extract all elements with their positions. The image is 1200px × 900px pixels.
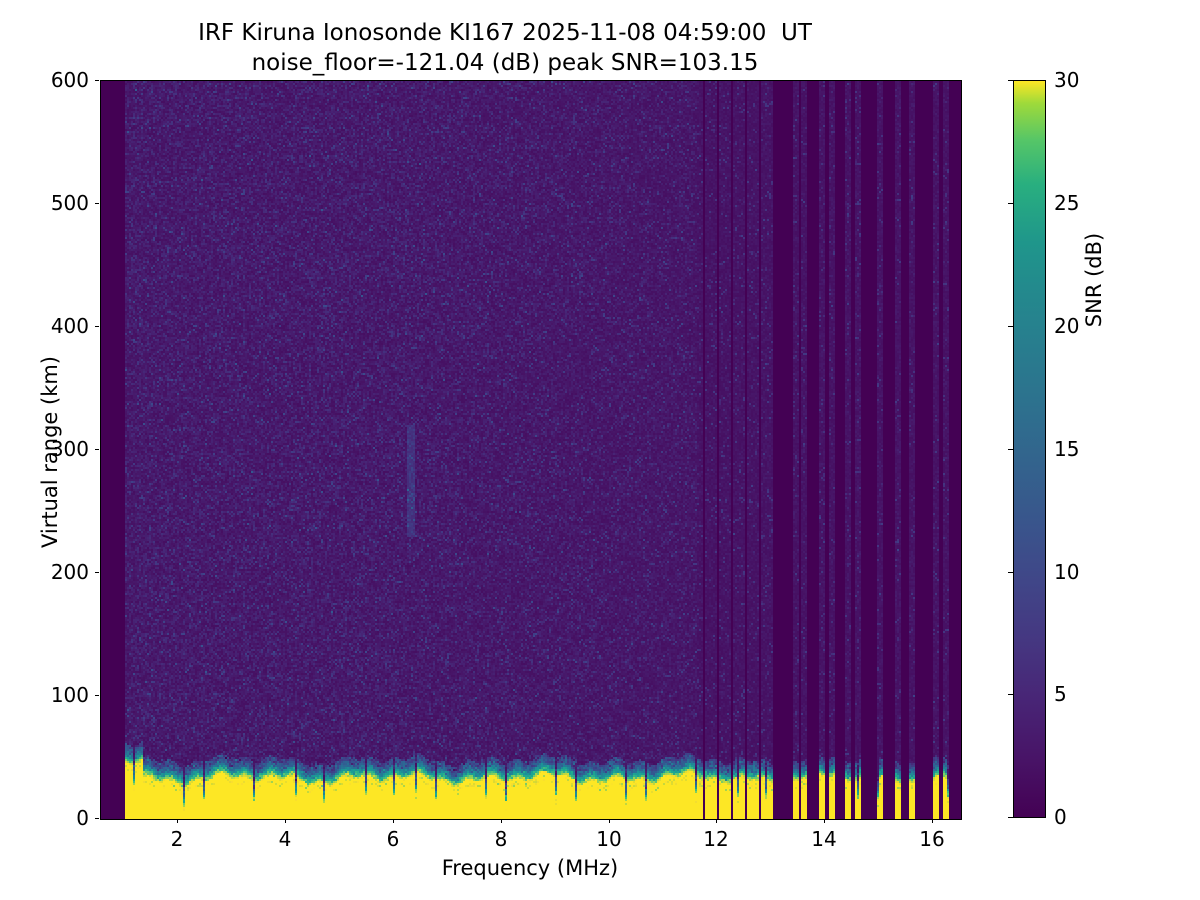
xtick-mark-7 [932,819,933,823]
ytick-label-0: 0 [15,807,89,829]
xtick-label-8: 8 [471,827,531,851]
xtick-label-16: 16 [902,827,962,851]
cbar-tick-25 [1008,203,1013,204]
ionogram-figure: IRF Kiruna Ionosonde KI167 2025-11-08 04… [0,0,1200,900]
cbar-label-0: 0 [1054,806,1067,828]
plot-axes [100,80,962,820]
ytick-mark-300 [95,449,99,450]
colorbar-label: SNR (dB) [1082,180,1106,380]
xtick-mark-5 [716,819,717,823]
plot-title: IRF Kiruna Ionosonde KI167 2025-11-08 04… [0,18,1010,78]
y-axis-label: Virtual range (km) [38,242,62,662]
xtick-mark-4 [609,819,610,823]
title-line-1: IRF Kiruna Ionosonde KI167 2025-11-08 04… [0,18,1010,48]
ytick-label-600: 600 [15,69,89,91]
xtick-mark-0 [177,819,178,823]
xtick-mark-2 [393,819,394,823]
cbar-tick-30 [1008,80,1013,81]
xtick-label-6: 6 [363,827,423,851]
xtick-label-4: 4 [255,827,315,851]
ytick-mark-500 [95,203,99,204]
ytick-mark-100 [95,695,99,696]
colorbar: 0 5 10 15 20 25 30 [1013,80,1046,818]
xtick-mark-1 [285,819,286,823]
title-line-2: noise_floor=-121.04 (dB) peak SNR=103.15 [0,48,1010,78]
colorbar-gradient [1013,80,1046,818]
xtick-label-10: 10 [579,827,639,851]
xtick-mark-6 [824,819,825,823]
cbar-label-30: 30 [1054,69,1079,91]
ionogram-heatmap [101,81,961,819]
cbar-label-20: 20 [1054,315,1079,337]
xtick-label-12: 12 [686,827,746,851]
cbar-label-5: 5 [1054,683,1067,705]
xtick-label-14: 14 [794,827,854,851]
cbar-tick-5 [1008,694,1013,695]
xtick-label-2: 2 [147,827,207,851]
xtick-mark-3 [501,819,502,823]
cbar-tick-10 [1008,572,1013,573]
ytick-label-500: 500 [15,192,89,214]
cbar-label-10: 10 [1054,561,1079,583]
ytick-mark-200 [95,572,99,573]
x-axis-label: Frequency (MHz) [100,856,960,880]
cbar-tick-15 [1008,449,1013,450]
ytick-label-100: 100 [15,684,89,706]
cbar-label-15: 15 [1054,438,1079,460]
cbar-tick-20 [1008,326,1013,327]
cbar-label-25: 25 [1054,192,1079,214]
cbar-tick-0 [1008,817,1013,818]
ytick-mark-0 [95,818,99,819]
ytick-mark-400 [95,326,99,327]
ytick-mark-600 [95,80,99,81]
